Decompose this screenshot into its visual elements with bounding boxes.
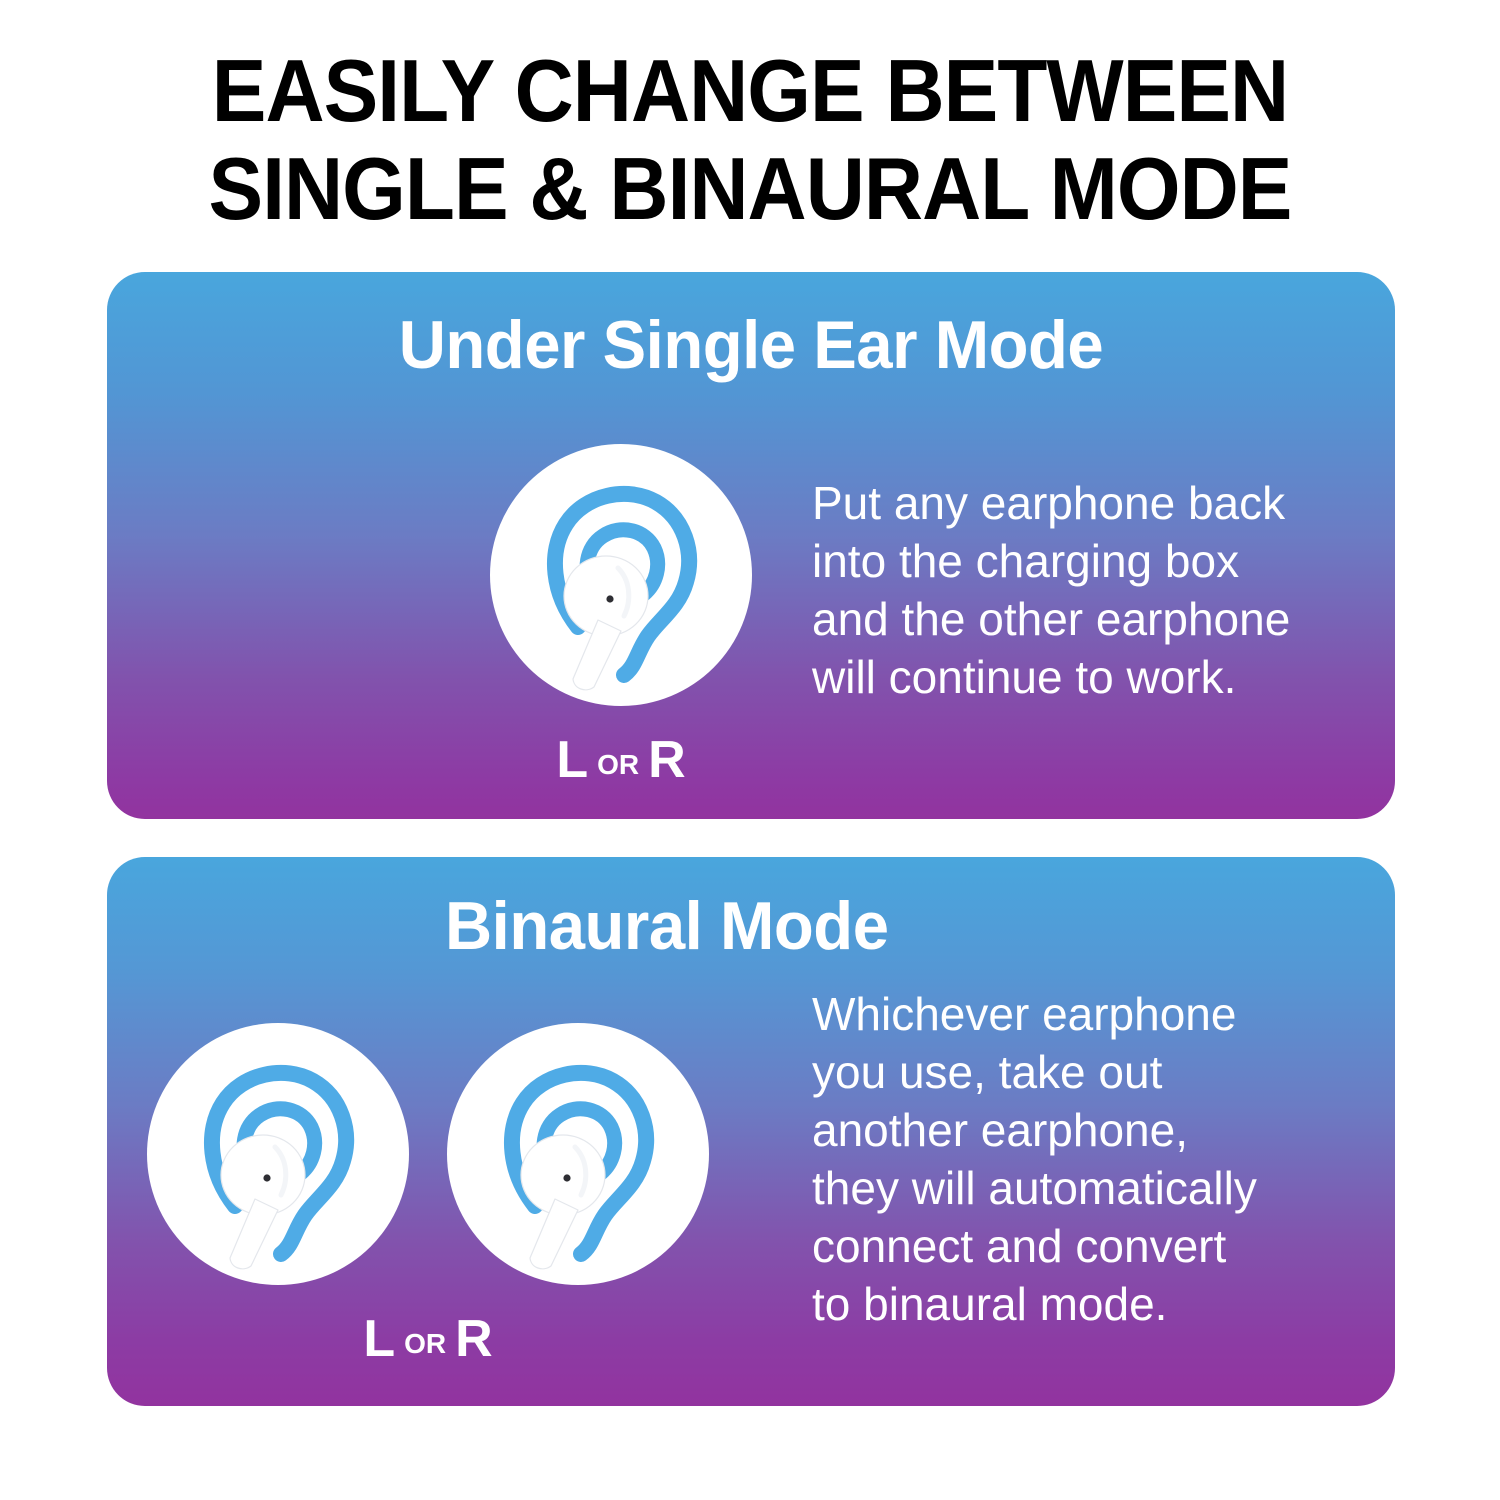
page-title: EASILY CHANGE BETWEEN SINGLE & BINAURAL … xyxy=(53,42,1448,238)
headline-line-2: SINGLE & BINAURAL MODE xyxy=(53,140,1448,238)
caption-right-label: R xyxy=(455,1310,493,1368)
headline-line-1: EASILY CHANGE BETWEEN xyxy=(53,42,1448,140)
ear-with-earbud-icon-left xyxy=(147,1023,409,1285)
body-line: will continue to work. xyxy=(812,648,1372,706)
card-body-single: Put any earphone back into the charging … xyxy=(812,474,1372,706)
caption-left-label: L xyxy=(363,1310,395,1368)
caption-l-or-r-single: LORR xyxy=(490,734,752,786)
caption-left-label: L xyxy=(556,731,588,789)
ear-with-earbud-icon-right xyxy=(447,1023,709,1285)
body-line: another earphone, xyxy=(812,1101,1352,1159)
ear-with-earbud-icon xyxy=(490,444,752,706)
body-line: you use, take out xyxy=(812,1043,1352,1101)
caption-l-or-r-binaural: LORR xyxy=(147,1313,709,1365)
body-line: Put any earphone back xyxy=(812,474,1372,532)
body-line: Whichever earphone xyxy=(812,985,1352,1043)
card-title-binaural: Binaural Mode xyxy=(445,889,889,963)
body-line: they will automatically xyxy=(812,1159,1352,1217)
caption-middle-label: OR xyxy=(588,749,648,780)
caption-right-label: R xyxy=(648,731,686,789)
body-line: connect and convert xyxy=(812,1217,1352,1275)
card-binaural-mode: Binaural Mode xyxy=(107,857,1395,1406)
body-line: into the charging box xyxy=(812,532,1372,590)
caption-middle-label: OR xyxy=(395,1328,455,1359)
infographic-page: EASILY CHANGE BETWEEN SINGLE & BINAURAL … xyxy=(0,0,1500,1500)
card-single-ear-mode: Under Single Ear Mode LORR xyxy=(107,272,1395,819)
card-body-binaural: Whichever earphone you use, take out ano… xyxy=(812,985,1352,1333)
body-line: to binaural mode. xyxy=(812,1275,1352,1333)
card-title-single: Under Single Ear Mode xyxy=(133,308,1369,382)
body-line: and the other earphone xyxy=(812,590,1372,648)
